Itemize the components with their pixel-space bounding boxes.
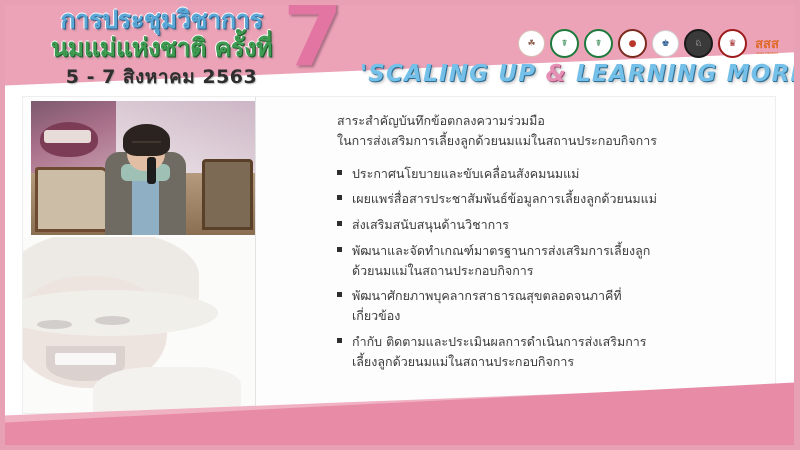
bullet-marker-icon	[337, 292, 342, 297]
sponsor-logo-strip: ☘ ☤ ☤ ● ♚ ♘ ♛ สสส THAI HEALTH	[518, 29, 782, 58]
frame-border-top	[0, 0, 800, 5]
frame-border-bottom	[0, 445, 800, 450]
list-item: เผยแพร่สื่อสารประชาสัมพันธ์ข้อมูลการเลี้…	[337, 189, 765, 209]
armchair-left	[35, 167, 108, 232]
department-of-health-logo: ☤	[584, 29, 613, 58]
list-item-line: เลี้ยงลูกด้วยนมแม่ในสถานประกอบกิจการ	[352, 352, 765, 372]
list-item-line: ส่งเสริมสนับสนุนด้านวิชาการ	[352, 215, 765, 235]
ministry-of-labour-logo: ♚	[652, 30, 679, 57]
list-item-line: พัฒนาและจัดทำเกณฑ์มาตรฐานการส่งเสริมการเ…	[352, 241, 765, 261]
edition-number: 7	[283, 5, 343, 79]
child-shirt	[93, 367, 241, 413]
speaker-hair	[123, 124, 170, 156]
thai-breastfeeding-centre-logo: ●	[618, 29, 647, 58]
thai-red-cross-logo: ♛	[718, 29, 747, 58]
list-item: พัฒนาศักยภาพบุคลากรสาธารณสุขตลอดจนภาคีที…	[337, 286, 765, 326]
list-item: ส่งเสริมสนับสนุนด้านวิชาการ	[337, 215, 765, 235]
frame-border-left	[0, 0, 5, 450]
bullet-marker-icon	[337, 221, 342, 226]
speaker-video-panel[interactable]	[31, 101, 255, 235]
tagline-prefix: 'SCALING UP	[360, 61, 546, 87]
ministry-of-public-health-logo: ☤	[550, 29, 579, 58]
slide-header: การประชุมวิชาการ นมแม่แห่งชาติ ครั้งที่ …	[5, 5, 794, 93]
conference-title-block: การประชุมวิชาการ นมแม่แห่งชาติ ครั้งที่ …	[19, 7, 304, 88]
list-item-line: พัฒนาศักยภาพบุคลากรสาธารณสุขตลอดจนภาคีที…	[352, 286, 765, 306]
bullet-marker-icon	[337, 170, 342, 175]
presentation-slide: การประชุมวิชาการ นมแม่แห่งชาติ ครั้งที่ …	[0, 0, 800, 450]
content-divider	[255, 97, 256, 413]
content-lead-line-2: ในการส่งเสริมการเลี้ยงลูกด้วยนมแม่ในสถาน…	[337, 131, 765, 151]
conference-title-line-2: นมแม่แห่งชาติ ครั้งที่	[19, 34, 304, 62]
thaihealth-sss-logo: สสส THAI HEALTH	[752, 31, 782, 56]
list-item: กำกับ ติดตามและประเมินผลการดำเนินการส่งเ…	[337, 332, 765, 372]
bullet-marker-icon	[337, 247, 342, 252]
backdrop-teeth	[44, 130, 91, 142]
child-photo	[23, 237, 255, 413]
thaihealth-sss-sublabel: THAI HEALTH	[752, 52, 782, 55]
royal-patronage-logo: ☘	[518, 30, 545, 57]
speaker-shirt	[132, 176, 159, 235]
list-item: ประกาศนโยบายและขับเคลื่อนสังคมนมแม่	[337, 164, 765, 184]
child-eye-left	[37, 320, 72, 329]
tagline-suffix: LEARNING MORE'	[567, 61, 794, 87]
list-item-line: เกี่ยวข้อง	[352, 306, 765, 326]
unicef-thailand-logo: ♘	[684, 29, 713, 58]
child-photo-inner	[23, 237, 255, 413]
tagline-ampersand: &	[546, 61, 567, 87]
content-lead-line-1: สาระสำคัญบันทึกข้อตกลงความร่วมมือ	[337, 111, 765, 131]
list-item-line: ประกาศนโยบายและขับเคลื่อนสังคมนมแม่	[352, 164, 765, 184]
speaker-glasses	[132, 141, 161, 148]
bullet-marker-icon	[337, 338, 342, 343]
child-eye-right	[95, 316, 130, 325]
conference-date: 5 - 7 สิงหาคม 2563	[19, 67, 304, 88]
frame-border-right	[794, 0, 800, 450]
bullet-list: ประกาศนโยบายและขับเคลื่อนสังคมนมแม่ เผยแ…	[337, 164, 765, 372]
conference-title-line-1: การประชุมวิชาการ	[19, 7, 304, 33]
bullet-marker-icon	[337, 195, 342, 200]
text-column: สาระสำคัญบันทึกข้อตกลงความร่วมมือ ในการส…	[271, 97, 771, 413]
child-teeth	[55, 353, 115, 365]
list-item-line: ด้วยนมแม่ในสถานประกอบกิจการ	[352, 261, 765, 281]
list-item-line: กำกับ ติดตามและประเมินผลการดำเนินการส่งเ…	[352, 332, 765, 352]
content-lead: สาระสำคัญบันทึกข้อตกลงความร่วมมือ ในการส…	[337, 111, 765, 152]
media-column	[23, 97, 255, 413]
list-item: พัฒนาและจัดทำเกณฑ์มาตรฐานการส่งเสริมการเ…	[337, 241, 765, 281]
child-hat-brim	[23, 290, 218, 336]
armchair-right	[202, 159, 253, 229]
microphone-icon	[147, 157, 156, 184]
list-item-line: เผยแพร่สื่อสารประชาสัมพันธ์ข้อมูลการเลี้…	[352, 189, 765, 209]
slide-content-area: สาระสำคัญบันทึกข้อตกลงความร่วมมือ ในการส…	[22, 96, 776, 414]
conference-tagline: 'SCALING UP & LEARNING MORE'	[360, 61, 794, 87]
